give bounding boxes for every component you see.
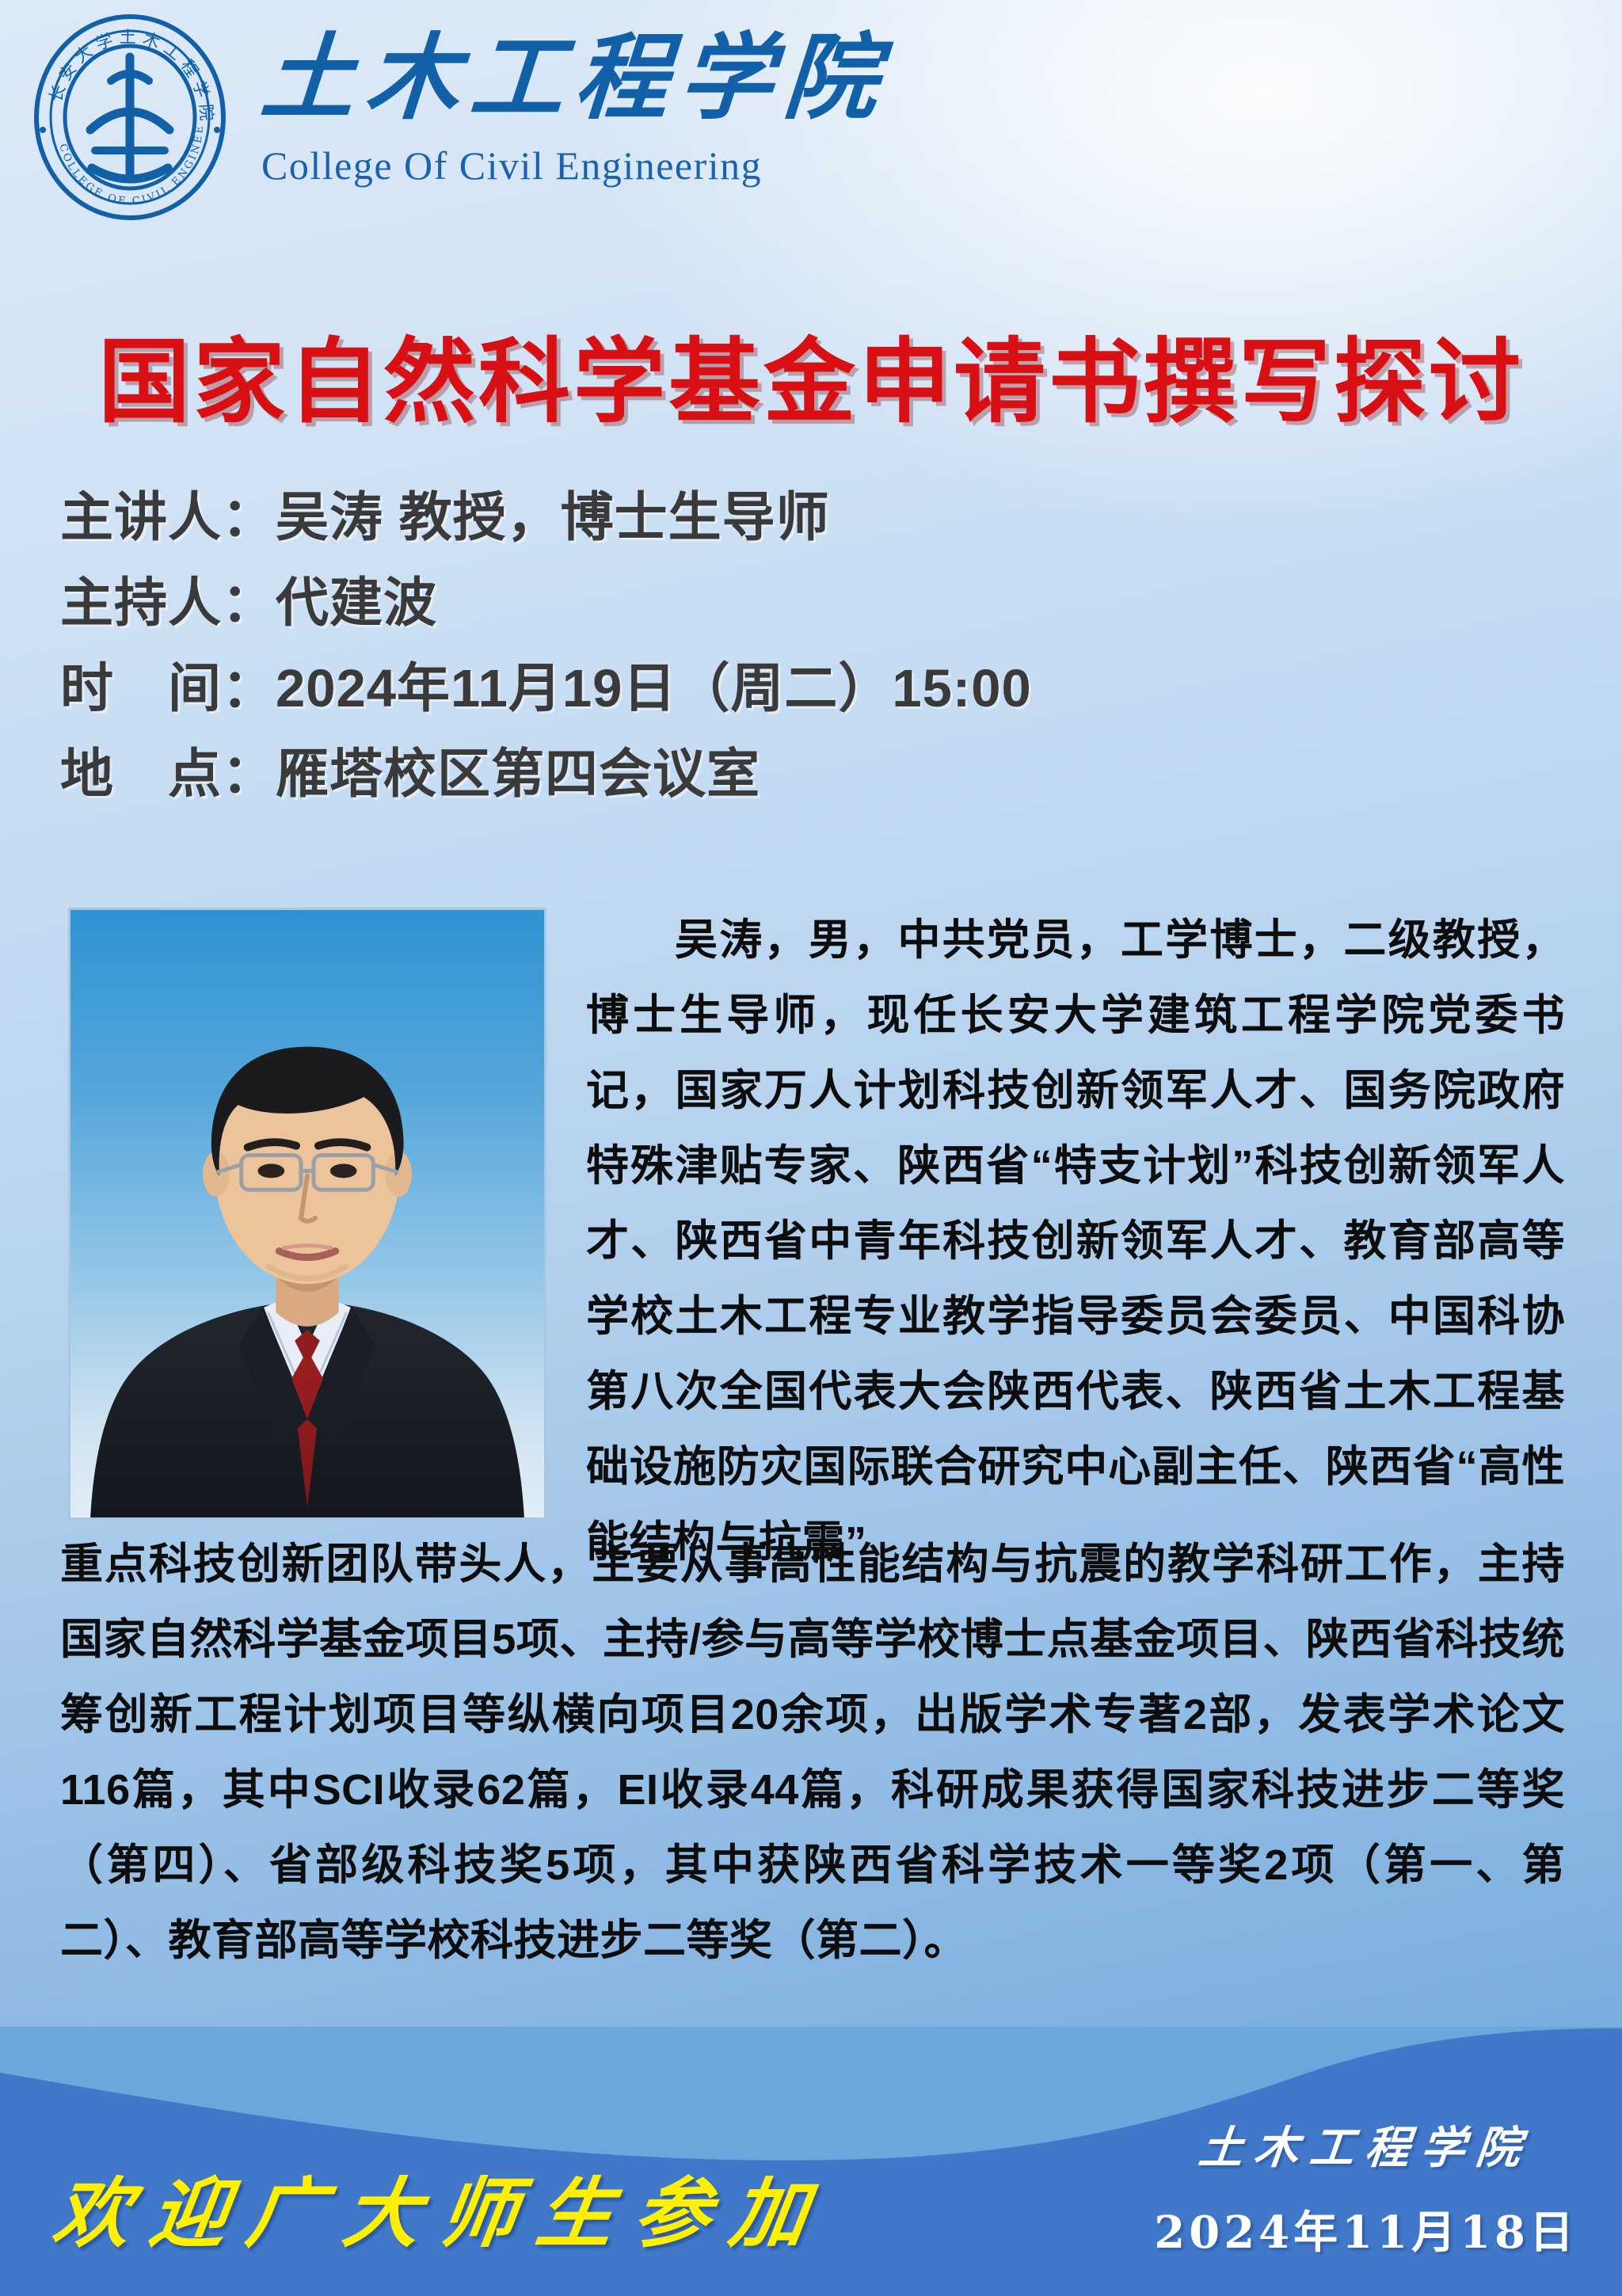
bio-paragraph-full: 重点科技创新团队带头人，主要从事高性能结构与抗震的教学科研工作，主持国家自然科学… — [60, 1527, 1565, 1978]
speaker-portrait-photo — [68, 908, 546, 1520]
speaker-value: 吴涛 教授，博士生导师 — [276, 491, 830, 544]
poster-footer: 欢迎广大师生参加 土木工程学院 2024年11月18日 — [0, 2027, 1622, 2296]
host-value: 代建波 — [276, 577, 437, 630]
place-label: 地 点： — [60, 748, 276, 801]
header-org-text: 土木工程学院 College Of Civil Engineering — [261, 21, 816, 188]
footer-org-name: 土木工程学院 — [1151, 2112, 1581, 2176]
college-seal-icon: 长安大学土木工程学院 COLLEGE OF CIVIL ENGINEERING — [24, 11, 236, 223]
poster-header: 长安大学土木工程学院 COLLEGE OF CIVIL ENGINEERING … — [0, 0, 1622, 238]
bio-paragraph-wrapped: 吴涛，男，中共党员，工学博士，二级教授，博士生导师，现任长安大学建筑工程学院党委… — [586, 903, 1565, 1580]
welcome-message: 欢迎广大师生参加 — [48, 2152, 836, 2262]
poster-root: 长安大学土木工程学院 COLLEGE OF CIVIL ENGINEERING … — [0, 0, 1622, 2296]
time-label: 时 间： — [60, 662, 276, 715]
poster-title: 国家自然科学基金申请书撰写探讨 — [0, 307, 1622, 440]
org-name-cn: 土木工程学院 — [257, 21, 820, 135]
time-value: 2024年11月19日（周二）15:00 — [276, 662, 1032, 715]
place-value: 雁塔校区第四会议室 — [276, 748, 760, 801]
host-label: 主持人： — [60, 577, 276, 630]
event-info-block: 主讲人： 吴涛 教授，博士生导师 主持人： 代建波 时 间： 2024年11月1… — [60, 491, 1565, 833]
footer-signature: 土木工程学院 2024年11月18日 — [1154, 2112, 1578, 2261]
org-name-en: College Of Civil Engineering — [261, 143, 816, 188]
info-row-speaker: 主讲人： 吴涛 教授，博士生导师 — [60, 491, 1565, 544]
footer-date: 2024年11月18日 — [1154, 2197, 1578, 2261]
info-row-host: 主持人： 代建波 — [60, 577, 1565, 630]
speaker-label: 主讲人： — [60, 491, 276, 544]
info-row-time: 时 间： 2024年11月19日（周二）15:00 — [60, 662, 1565, 715]
info-row-place: 地 点： 雁塔校区第四会议室 — [60, 748, 1565, 801]
